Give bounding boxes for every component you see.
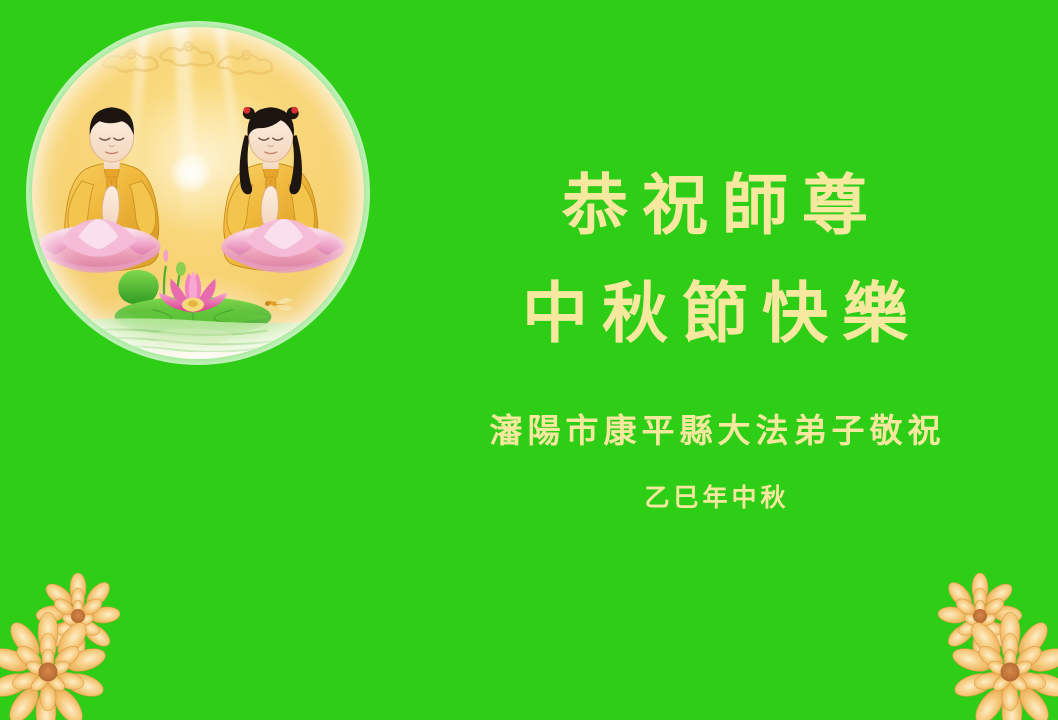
lotus-seat-right: [221, 219, 346, 273]
center-glow-orb: [170, 152, 212, 194]
lotus-leaf-standing: [118, 270, 158, 305]
greeting-date: 乙巳年中秋: [372, 478, 1058, 514]
greeting-message: 恭祝師尊 中秋節快樂 瀋陽市康平縣大法弟子敬祝 乙巳年中秋: [372, 0, 1058, 720]
light-rays: [32, 27, 364, 273]
chrysanthemum-upper: [35, 573, 121, 659]
light-beam-2: [172, 27, 200, 233]
lotus-seat-left: [36, 219, 161, 273]
meditation-illustration: [32, 27, 364, 359]
water-surface: [32, 318, 364, 352]
lotus-bud-1: [163, 249, 168, 263]
chrysanthemum-lower: [0, 612, 108, 720]
dragonfly-icon: [265, 298, 293, 311]
corner-flower-left: [0, 568, 157, 720]
greeting-title-line-1: 恭祝師尊: [372, 152, 1058, 248]
greeting-signature: 瀋陽市康平縣大法弟子敬祝: [372, 404, 1058, 452]
light-beam-3: [211, 27, 247, 193]
lotus-flower-main: [159, 271, 227, 313]
lotus-stems: [164, 267, 189, 311]
illustration-disc: [32, 27, 364, 359]
lotus-bud-2: [176, 262, 186, 276]
greeting-card: 恭祝師尊 中秋節快樂 瀋陽市康平縣大法弟子敬祝 乙巳年中秋: [0, 0, 1058, 720]
lily-pad: [114, 297, 271, 337]
cloud-motif-icon: [92, 37, 298, 90]
girl-meditating-figure: [211, 90, 331, 296]
water-ripples: [52, 329, 293, 351]
light-beam-1: [121, 27, 152, 206]
boy-meditating-figure: [52, 90, 172, 296]
greeting-title-line-2: 中秋節快樂: [372, 260, 1058, 356]
lotus-pond: [32, 213, 364, 352]
